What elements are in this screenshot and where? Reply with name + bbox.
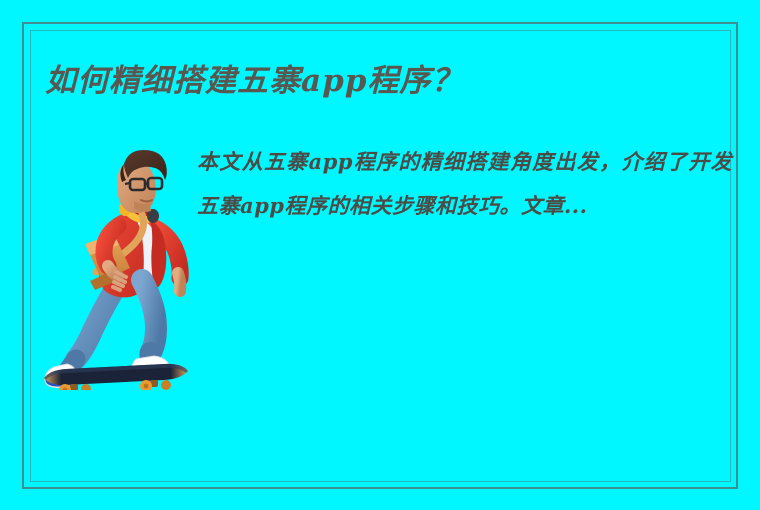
article-summary: 本文从五寨app程序的精细搭建角度出发，介绍了开发五寨app程序的相关步骤和技巧… bbox=[197, 140, 732, 228]
skateboarder-illustration bbox=[38, 140, 208, 390]
illustration-front-leg bbox=[132, 280, 170, 378]
article-card: 如何精细搭建五寨app程序？ bbox=[0, 0, 760, 510]
illustration-head bbox=[117, 150, 167, 213]
page-title: 如何精细搭建五寨app程序？ bbox=[45, 60, 685, 102]
